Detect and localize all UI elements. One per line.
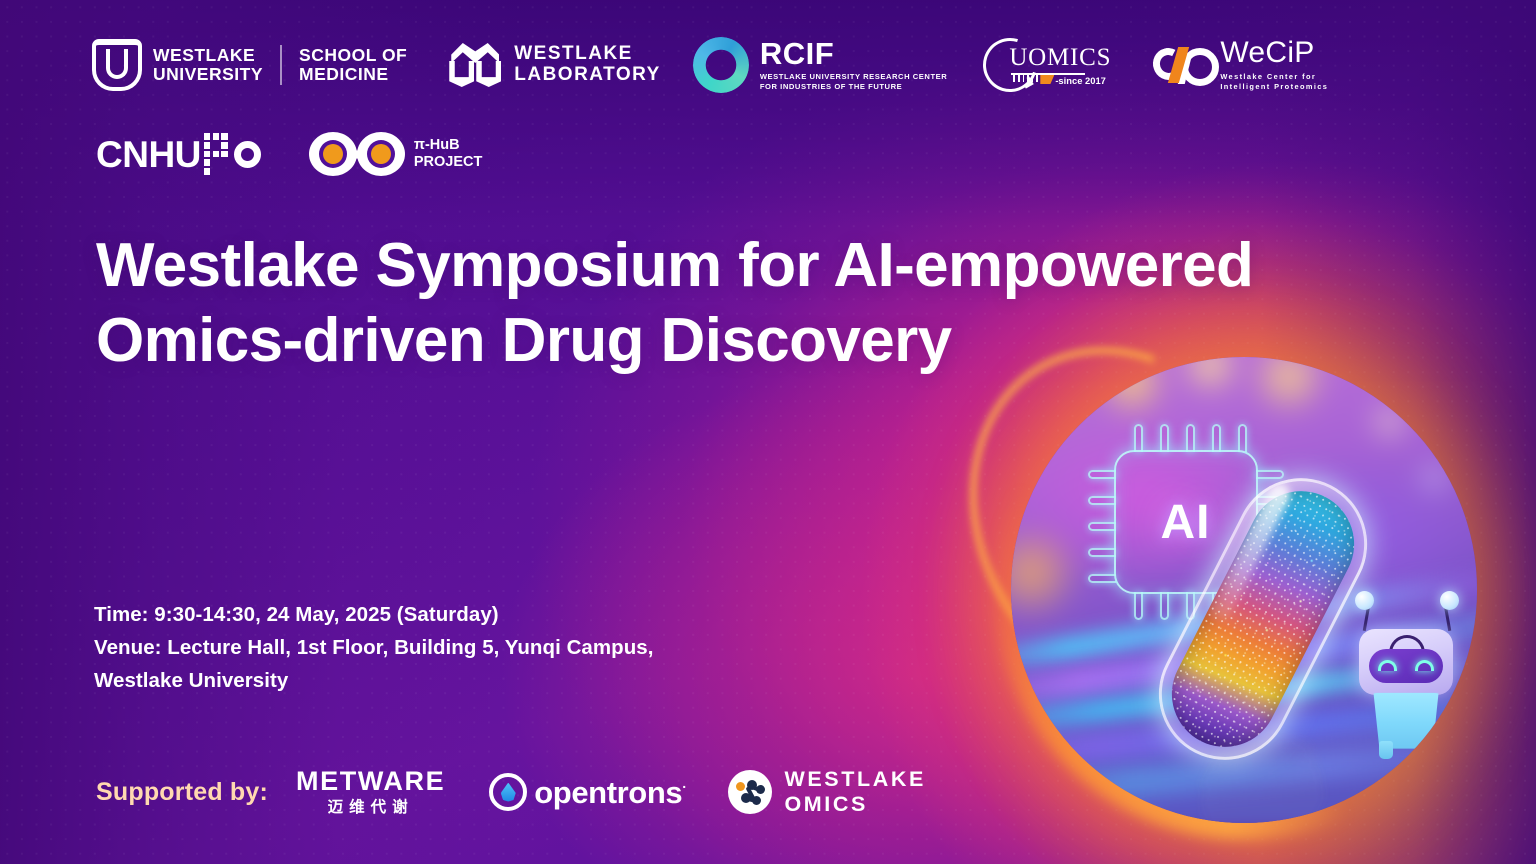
symposium-poster: AI — [0, 0, 1536, 864]
rcif-ring-icon — [693, 37, 749, 93]
supported-by-label: Supported by: — [96, 778, 268, 807]
wl-line1: WESTLAKE — [514, 44, 661, 65]
wecip-name: WeCiP — [1220, 38, 1328, 68]
rcif-sub-line1: WESTLAKE UNIVERSITY RESEARCH CENTER — [760, 72, 947, 82]
logo-row-secondary: CNHU π-HuB PROJECT — [96, 128, 482, 180]
wecip-wordmark: WeCiP Westlake Center for Intelligent Pr… — [1220, 38, 1328, 92]
logo-pi-hub-project[interactable]: π-HuB PROJECT — [309, 132, 483, 176]
cnhupo-o-icon — [234, 141, 261, 168]
uomics-ticks-icon — [1013, 75, 1042, 82]
title-line-1: Westlake Symposium for AI-empowered — [96, 231, 1253, 300]
rcif-acronym: RCIF — [760, 38, 947, 69]
opentrons-droplet-icon — [489, 773, 527, 811]
logo-divider — [280, 45, 282, 85]
logo-westlake-university[interactable]: WESTLAKE UNIVERSITY SCHOOL OF MEDICINE — [92, 39, 407, 91]
school-of-medicine-wordmark: SCHOOL OF MEDICINE — [299, 46, 407, 84]
logo-westlake-omics[interactable]: WESTLAKE OMICS — [728, 767, 925, 817]
rcif-subtitle: WESTLAKE UNIVERSITY RESEARCH CENTER FOR … — [760, 72, 947, 92]
uomics-orange-flag-icon — [1040, 75, 1054, 84]
westlake-omics-molecule-icon — [728, 770, 772, 814]
event-venue-line2: Westlake University — [94, 664, 654, 697]
event-time: Time: 9:30-14:30, 24 May, 2025 (Saturday… — [94, 598, 654, 631]
page-title: Westlake Symposium for AI-empowered Omic… — [96, 228, 1456, 378]
title-line-2: Omics-driven Drug Discovery — [96, 303, 1456, 378]
wu-line2: UNIVERSITY — [153, 65, 263, 84]
logo-cnhupo[interactable]: CNHU — [96, 133, 261, 174]
logo-uomics[interactable]: UOMICS -since 2017 — [983, 37, 1115, 93]
pi-hub-infinity-icon — [309, 132, 405, 176]
pi-hub-line1: π-HuB — [414, 137, 483, 154]
wecip-monogram-icon — [1153, 46, 1211, 84]
cnhupo-pixel-p-icon — [204, 133, 228, 174]
uomics-wordmark: UOMICS — [1009, 44, 1111, 72]
event-details: Time: 9:30-14:30, 24 May, 2025 (Saturday… — [94, 598, 654, 698]
westlake-laboratory-wordmark: WESTLAKE LABORATORY — [514, 44, 661, 85]
metware-wordmark-cn: 迈维代谢 — [328, 800, 414, 816]
metware-wordmark-en: METWARE — [296, 768, 445, 795]
hero-image: AI — [1011, 357, 1477, 823]
opentrons-wordmark: opentrons· — [534, 777, 686, 808]
logo-opentrons[interactable]: opentrons· — [489, 773, 686, 811]
pi-hub-wordmark: π-HuB PROJECT — [414, 137, 483, 171]
rcif-sub-line2: FOR INDUSTRIES OF THE FUTURE — [760, 82, 947, 92]
uomics-since-label: -since 2017 — [1055, 75, 1106, 86]
som-line2: MEDICINE — [299, 65, 407, 84]
cnhupo-wordmark: CNHU — [96, 136, 201, 173]
event-venue-line1: Venue: Lecture Hall, 1st Floor, Building… — [94, 631, 654, 664]
opentrons-name: opentrons — [534, 775, 682, 810]
wu-line1: WESTLAKE — [153, 46, 263, 65]
som-line1: SCHOOL OF — [299, 46, 407, 65]
wecip-sub-line2: Intelligent Proteomics — [1220, 82, 1328, 92]
logo-wecip[interactable]: WeCiP Westlake Center for Intelligent Pr… — [1153, 38, 1328, 92]
westlake-university-shield-icon — [92, 39, 142, 91]
wl-line2: LABORATORY — [514, 65, 661, 86]
supported-by-section: Supported by: METWARE 迈维代谢 opentrons· — [96, 762, 926, 822]
opentrons-trademark-dot: · — [682, 778, 686, 794]
westlake-university-wordmark: WESTLAKE UNIVERSITY — [153, 46, 263, 84]
westlake-laboratory-hex-icon — [447, 43, 503, 87]
pi-hub-line2: PROJECT — [414, 154, 483, 171]
logo-rcif[interactable]: RCIF WESTLAKE UNIVERSITY RESEARCH CENTER… — [693, 37, 947, 93]
robot-icon — [1351, 609, 1463, 759]
wecip-subtitle: Westlake Center for Intelligent Proteomi… — [1220, 72, 1328, 92]
logo-metware[interactable]: METWARE 迈维代谢 — [296, 768, 445, 816]
logo-row-primary: WESTLAKE UNIVERSITY SCHOOL OF MEDICINE W… — [92, 36, 1328, 94]
hero-circle-photo: AI — [1011, 357, 1477, 823]
wo-line2: OMICS — [784, 792, 925, 817]
wo-line1: WESTLAKE — [784, 767, 925, 792]
wecip-sub-line1: Westlake Center for — [1220, 72, 1328, 82]
westlake-omics-wordmark: WESTLAKE OMICS — [784, 767, 925, 817]
rcif-wordmark: RCIF WESTLAKE UNIVERSITY RESEARCH CENTER… — [760, 38, 947, 92]
logo-westlake-laboratory[interactable]: WESTLAKE LABORATORY — [447, 43, 661, 87]
